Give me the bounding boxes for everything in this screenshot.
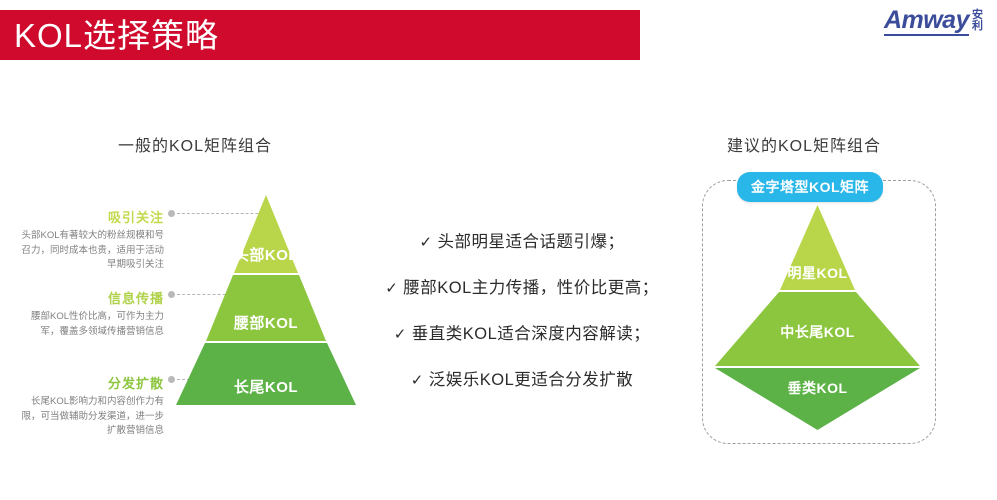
list-item: ✓ 头部明星适合话题引爆；: [372, 228, 672, 252]
logo-wordmark: Amway: [884, 8, 969, 36]
suggested-tier-middle: 中长尾KOL: [715, 292, 920, 366]
suggested-tier-label: 垂类KOL: [715, 378, 920, 398]
suggested-tier-label: 明星KOL: [715, 263, 920, 283]
pyramid-tier-bottom: 长尾KOL: [176, 343, 356, 405]
check-icon: ✓: [394, 325, 407, 343]
logo-chinese: 安 利: [972, 10, 983, 36]
amway-logo: Amway 安 利: [884, 8, 983, 36]
list-item-text: 泛娱乐KOL更适合分发扩散: [429, 366, 634, 390]
right-section-heading: 建议的KOL矩阵组合: [727, 132, 881, 156]
annotation-attract: 吸引关注 头部KOL有著较大的粉丝规模和号召力，同时成本也贵，适用于活动早期吸引…: [14, 207, 164, 273]
annotation-title: 吸引关注: [14, 207, 164, 226]
annotation-title: 信息传播: [14, 288, 164, 307]
connector-dot-icon: [168, 291, 175, 298]
page-title: KOL选择策略: [0, 19, 219, 52]
kol-pyramid-current: 头部KOL 腰部KOL 长尾KOL: [176, 195, 356, 415]
check-icon: ✓: [385, 279, 398, 297]
check-icon: ✓: [411, 371, 424, 389]
list-item: ✓ 泛娱乐KOL更适合分发扩散: [372, 366, 672, 390]
logo-cn-char-2: 利: [972, 21, 983, 33]
suggested-tier-bottom: 垂类KOL: [715, 368, 920, 430]
check-icon: ✓: [419, 233, 432, 251]
annotation-body: 腰部KOL性价比高，可作为主力军，覆盖多领域传播营销信息: [14, 310, 164, 339]
suggested-tier-top: 明星KOL: [715, 205, 920, 290]
pyramid-tier-label: 头部KOL: [176, 244, 356, 265]
annotation-spread: 信息传播 腰部KOL性价比高，可作为主力军，覆盖多领域传播营销信息: [14, 288, 164, 339]
connector-dot-icon: [168, 210, 175, 217]
recommendation-list: ✓ 头部明星适合话题引爆； ✓ 腰部KOL主力传播，性价比更高； ✓ 垂直类KO…: [372, 228, 672, 390]
list-item-text: 垂直类KOL适合深度内容解读；: [412, 320, 651, 344]
pyramid-tier-label: 腰部KOL: [176, 312, 356, 333]
annotation-distribute: 分发扩散 长尾KOL影响力和内容创作力有限，可当做辅助分发渠道，进一步扩散营销信…: [14, 373, 164, 439]
list-item: ✓ 垂直类KOL适合深度内容解读；: [372, 320, 672, 344]
pyramid-tier-middle: 腰部KOL: [176, 275, 356, 341]
annotation-body: 头部KOL有著较大的粉丝规模和号召力，同时成本也贵，适用于活动早期吸引关注: [14, 229, 164, 273]
connector-dot-icon: [168, 376, 175, 383]
annotation-title: 分发扩散: [14, 373, 164, 392]
pyramid-tier-label: 长尾KOL: [176, 376, 356, 397]
suggested-tier-label: 中长尾KOL: [715, 322, 920, 342]
list-item-text: 腰部KOL主力传播，性价比更高；: [403, 274, 659, 298]
title-banner: KOL选择策略: [0, 10, 640, 60]
pyramid-tier-top: 头部KOL: [176, 195, 356, 273]
left-section-heading: 一般的KOL矩阵组合: [118, 132, 272, 156]
list-item-text: 头部明星适合话题引爆；: [438, 228, 625, 252]
pyramid-matrix-badge: 金字塔型KOL矩阵: [737, 172, 883, 202]
annotation-body: 长尾KOL影响力和内容创作力有限，可当做辅助分发渠道，进一步扩散营销信息: [14, 395, 164, 439]
kol-pyramid-suggested: 明星KOL 中长尾KOL 垂类KOL: [715, 205, 920, 430]
list-item: ✓ 腰部KOL主力传播，性价比更高；: [372, 274, 672, 298]
left-pyramid-block: 吸引关注 头部KOL有著较大的粉丝规模和号召力，同时成本也贵，适用于活动早期吸引…: [0, 185, 360, 445]
